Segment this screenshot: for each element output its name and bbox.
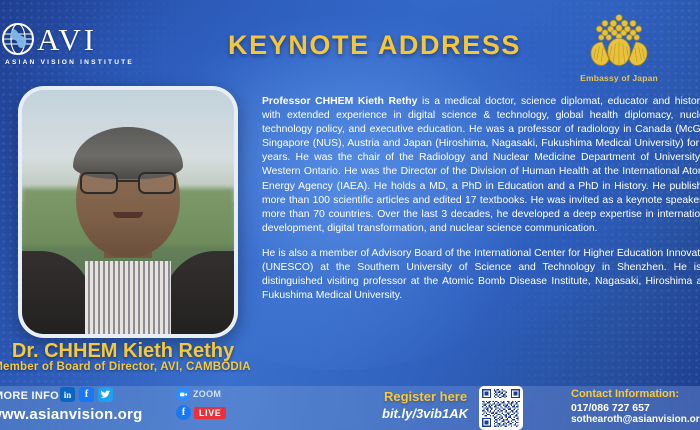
speaker-role: Member of Board of Director, AVI, CAMBOD… [0,361,268,373]
bio-paragraph-2: He is also a member of Advisory Board of… [262,247,700,303]
social-links: in f [60,387,113,402]
photo-mouth [113,212,143,218]
bio-paragraph-1-rest: is a medical doctor, science diplomat, e… [262,96,700,234]
contact-email[interactable]: sothearoth@asianvision.org [571,414,700,425]
register-link[interactable]: bit.ly/3vib1AK [382,406,468,421]
facebook-round-icon: f [176,405,191,420]
facebook-live-badge: f LIVE [176,405,226,420]
speaker-bio: Professor CHHEM Kieth Rethy is a medical… [262,95,700,314]
avi-logo[interactable]: AVI ASIAN VISION INSTITUTE [4,22,124,76]
zoom-label: ZOOM [193,389,221,399]
avi-full-name: ASIAN VISION INSTITUTE [5,59,124,66]
speaker-photo [22,90,234,334]
photo-lens-left [80,172,118,194]
video-camera-icon [176,387,190,401]
avi-acronym: AVI [37,24,97,55]
live-label: LIVE [194,407,226,419]
photo-glasses [80,172,176,194]
speaker-photo-frame [18,86,238,338]
keynote-poster: AVI ASIAN VISION INSTITUTE [0,0,700,430]
contact-phone: 017/086 727 657 [571,402,650,414]
register-here-label: Register here [384,389,467,404]
embassy-of-japan-logo: Embassy of Japan [564,14,674,83]
speaker-name: Dr. CHHEM Kieth Rethy [0,340,246,363]
avi-logo-row: AVI [4,22,124,56]
bio-paragraph-1: Professor CHHEM Kieth Rethy is a medical… [262,95,700,236]
website-link[interactable]: www.asianvision.org [0,406,142,423]
page-title: KEYNOTE ADDRESS [228,30,521,61]
globe-icon [1,22,35,56]
zoom-badge: ZOOM [176,387,221,401]
qr-code[interactable] [479,386,523,430]
photo-shirt [85,261,171,334]
twitter-icon[interactable] [98,387,113,402]
photo-lens-right [138,172,176,194]
bio-lead-name: Professor CHHEM Kieth Rethy [262,96,417,107]
photo-glasses-bridge [118,180,138,182]
contact-heading: Contact Information: [571,388,679,400]
embassy-caption: Embassy of Japan [564,73,674,83]
more-info-label: MORE INFO: [0,390,63,402]
facebook-icon[interactable]: f [79,387,94,402]
linkedin-icon[interactable]: in [60,387,75,402]
paulownia-crest-icon [564,14,674,72]
